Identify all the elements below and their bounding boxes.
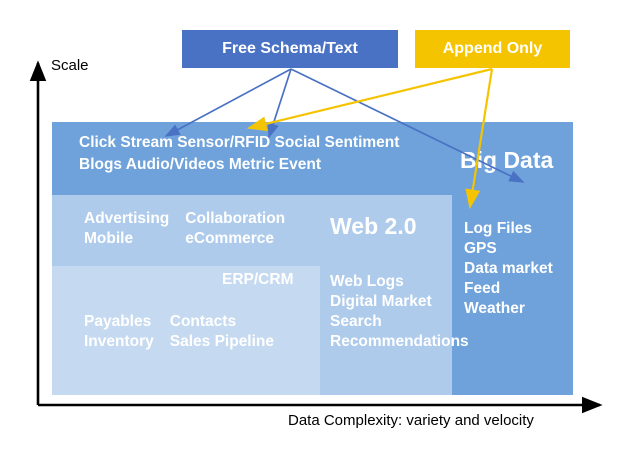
log-column-items: Log Files GPS Data market Feed Weather — [464, 219, 553, 319]
web-column-item: Digital Market — [330, 292, 469, 312]
web-column-item: Search — [330, 312, 469, 332]
log-column-item: Data market — [464, 259, 553, 279]
x-axis-label: Data Complexity: variety and velocity — [288, 412, 534, 429]
web-2-0-items-col-b: Collaboration eCommerce — [185, 209, 285, 249]
erp-crm-items-col-b: Contacts Sales Pipeline — [170, 312, 274, 352]
erp-crm-item: Sales Pipeline — [170, 332, 274, 352]
arrow-append-only-to-big-data-items — [249, 69, 492, 128]
web-2-0-title: Web 2.0 — [330, 216, 417, 236]
callout-free-schema-text[interactable]: Free Schema/Text — [182, 30, 398, 68]
web-2-0-item: Mobile — [84, 229, 169, 249]
web-2-0-item: eCommerce — [185, 229, 285, 249]
web-2-0-items-col-a: Advertising Mobile — [84, 209, 169, 249]
y-axis-label: Scale — [51, 57, 89, 74]
web-2-0-item: Collaboration — [185, 209, 285, 229]
web-2-0-item: Advertising — [84, 209, 169, 229]
big-data-items-row-2: Blogs Audio/Videos Metric Event — [79, 155, 321, 175]
web-column-item: Web Logs — [330, 272, 469, 292]
callout-append-only[interactable]: Append Only — [415, 30, 570, 68]
web-column-item: Recommendations — [330, 332, 469, 352]
erp-crm-item: Inventory — [84, 332, 154, 352]
big-data-items-row-1: Click Stream Sensor/RFID Social Sentimen… — [79, 133, 399, 153]
diagram-canvas: Scale Data Complexity: variety and veloc… — [0, 0, 640, 458]
erp-crm-items: Payables Inventory Contacts Sales Pipeli… — [84, 312, 274, 352]
big-data-title: Big Data — [460, 150, 553, 170]
web-column-items: Web Logs Digital Market Search Recommend… — [330, 272, 469, 352]
web-2-0-items: Advertising Mobile Collaboration eCommer… — [84, 209, 285, 249]
erp-crm-item: Payables — [84, 312, 154, 332]
log-column-item: Log Files — [464, 219, 553, 239]
log-column-item: GPS — [464, 239, 553, 259]
erp-crm-item: Contacts — [170, 312, 274, 332]
log-column-item: Feed — [464, 279, 553, 299]
erp-crm-items-col-a: Payables Inventory — [84, 312, 154, 352]
log-column-item: Weather — [464, 299, 553, 319]
erp-crm-title: ERP/CRM — [222, 270, 293, 290]
